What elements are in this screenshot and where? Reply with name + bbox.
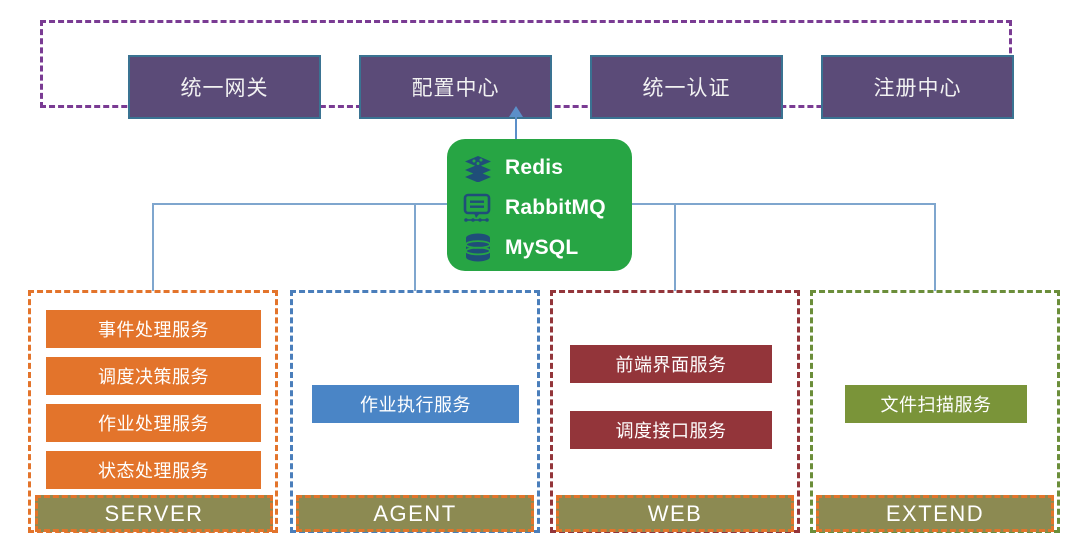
column-footer-label: SERVER xyxy=(104,501,203,527)
service-label: 调度接口服务 xyxy=(616,417,727,443)
connector-drop-web xyxy=(674,203,676,291)
platform-box-label: 统一认证 xyxy=(643,72,731,102)
middleware-item-redis[interactable]: Redis xyxy=(461,148,632,187)
column-footer-label: AGENT xyxy=(373,501,456,527)
column-footer-label: EXTEND xyxy=(886,501,984,527)
service-label: 文件扫描服务 xyxy=(881,391,992,417)
layers-stack-icon xyxy=(461,152,495,184)
arrow-head-icon xyxy=(509,106,523,117)
architecture-diagram-canvas: 统一网关 配置中心 统一认证 注册中心 xyxy=(0,0,1080,545)
connector-drop-server xyxy=(152,203,154,291)
middleware-item-label: RabbitMQ xyxy=(505,196,606,220)
platform-box-label: 配置中心 xyxy=(412,72,500,102)
platform-box-label: 注册中心 xyxy=(874,72,962,102)
service-label: 前端界面服务 xyxy=(616,351,727,377)
column-footer-agent[interactable]: AGENT xyxy=(296,495,534,532)
service-label: 事件处理服务 xyxy=(98,316,209,342)
service-label: 状态处理服务 xyxy=(98,457,209,483)
platform-layer-group: 统一网关 配置中心 统一认证 注册中心 xyxy=(40,20,1012,108)
service-box-state-processing[interactable]: 状态处理服务 xyxy=(46,451,261,489)
database-icon xyxy=(461,232,495,264)
middleware-item-label: Redis xyxy=(505,156,563,180)
service-box-event-processing[interactable]: 事件处理服务 xyxy=(46,310,261,348)
column-footer-extend[interactable]: EXTEND xyxy=(816,495,1054,532)
service-label: 调度决策服务 xyxy=(98,363,209,389)
service-label: 作业执行服务 xyxy=(360,391,471,417)
message-queue-icon xyxy=(461,192,495,224)
connector-drop-agent xyxy=(414,203,416,291)
middleware-item-rabbitmq[interactable]: RabbitMQ xyxy=(461,188,632,227)
platform-box-registry[interactable]: 注册中心 xyxy=(821,55,1014,119)
platform-box-label: 统一网关 xyxy=(181,72,269,102)
connector-drop-extend xyxy=(934,203,936,291)
platform-box-auth[interactable]: 统一认证 xyxy=(590,55,783,119)
service-box-scheduling-decision[interactable]: 调度决策服务 xyxy=(46,357,261,395)
service-label: 作业处理服务 xyxy=(98,410,209,436)
connector-bus-right xyxy=(631,203,935,205)
column-footer-web[interactable]: WEB xyxy=(556,495,794,532)
middleware-item-label: MySQL xyxy=(505,236,578,260)
service-box-file-scan[interactable]: 文件扫描服务 xyxy=(845,385,1027,423)
service-box-frontend-ui[interactable]: 前端界面服务 xyxy=(570,345,772,383)
connector-bus-left xyxy=(152,203,448,205)
middleware-item-mysql[interactable]: MySQL xyxy=(461,228,632,267)
middleware-card[interactable]: Redis RabbitMQ xyxy=(447,139,632,271)
service-box-job-processing[interactable]: 作业处理服务 xyxy=(46,404,261,442)
column-footer-label: WEB xyxy=(648,501,703,527)
platform-box-gateway[interactable]: 统一网关 xyxy=(128,55,321,119)
service-box-scheduling-api[interactable]: 调度接口服务 xyxy=(570,411,772,449)
platform-box-config-center[interactable]: 配置中心 xyxy=(359,55,552,119)
service-box-job-execution[interactable]: 作业执行服务 xyxy=(312,385,519,423)
column-footer-server[interactable]: SERVER xyxy=(35,495,273,532)
